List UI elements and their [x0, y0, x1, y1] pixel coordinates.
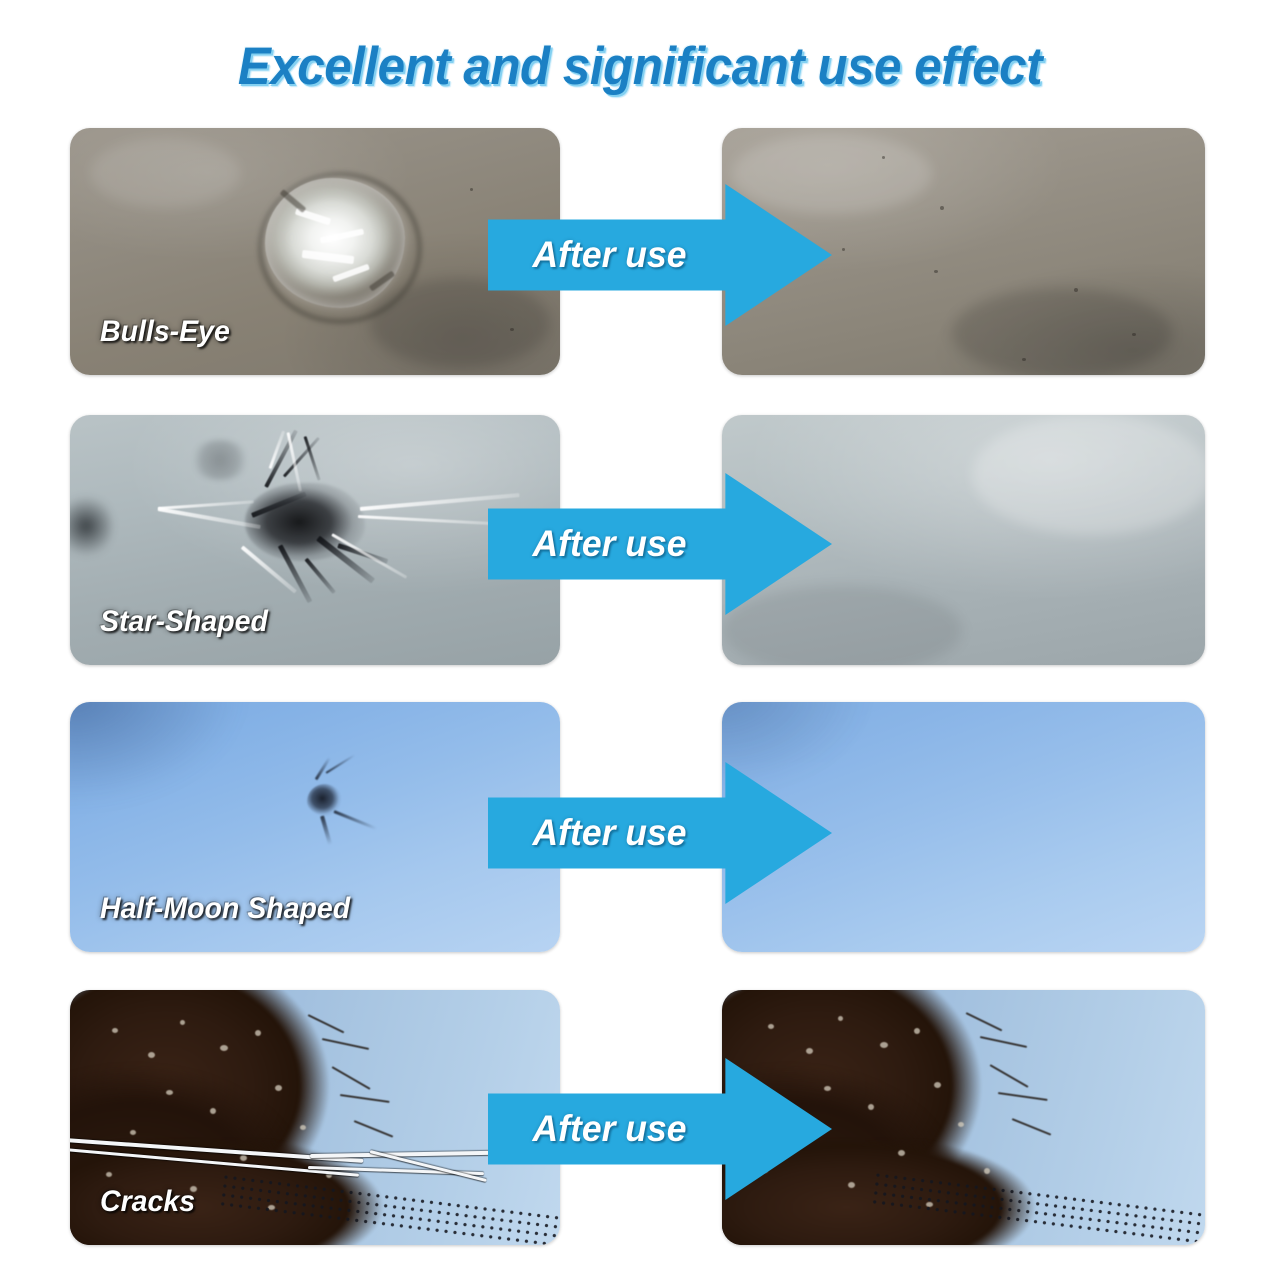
bulls-eye-damage-image: Bulls-Eye [70, 128, 560, 375]
sky-corner-shadow [70, 702, 242, 804]
star-shaped-repaired-image [722, 415, 1205, 665]
comparison-row-half-moon-shaped: Half-Moon Shaped After use [0, 702, 1280, 952]
row-caption-half-moon-shaped: Half-Moon Shaped [100, 892, 350, 926]
before-panel-bulls-eye[interactable]: Bulls-Eye [70, 128, 560, 375]
bulls-eye-repaired-image [722, 128, 1205, 375]
comparison-row-star-shaped: Star-Shaped After use [0, 415, 1280, 665]
cracks-damage-image: Cracks [70, 990, 560, 1245]
row-caption-bulls-eye: Bulls-Eye [100, 315, 230, 349]
comparison-row-bulls-eye: Bulls-Eye After use [0, 128, 1280, 375]
edge-shadow [70, 493, 112, 559]
half-moon-damage-image: Half-Moon Shaped [70, 702, 560, 952]
before-panel-cracks[interactable]: Cracks [70, 990, 560, 1245]
before-panel-star-shaped[interactable]: Star-Shaped [70, 415, 560, 665]
infographic-page: Excellent and significant use effect Bul… [0, 0, 1280, 1280]
after-panel-cracks[interactable] [722, 990, 1205, 1245]
row-caption-star-shaped: Star-Shaped [100, 605, 268, 639]
half-moon-repaired-image [722, 702, 1205, 952]
cracks-repaired-image [722, 990, 1205, 1245]
before-panel-half-moon-shaped[interactable]: Half-Moon Shaped [70, 702, 560, 952]
after-panel-half-moon-shaped[interactable] [722, 702, 1205, 952]
row-caption-cracks: Cracks [100, 1185, 195, 1219]
comparison-row-cracks: Cracks [0, 990, 1280, 1245]
star-shaped-damage-image: Star-Shaped [70, 415, 560, 665]
after-panel-bulls-eye[interactable] [722, 128, 1205, 375]
after-panel-star-shaped[interactable] [722, 415, 1205, 665]
page-title: Excellent and significant use effect [45, 36, 1235, 97]
